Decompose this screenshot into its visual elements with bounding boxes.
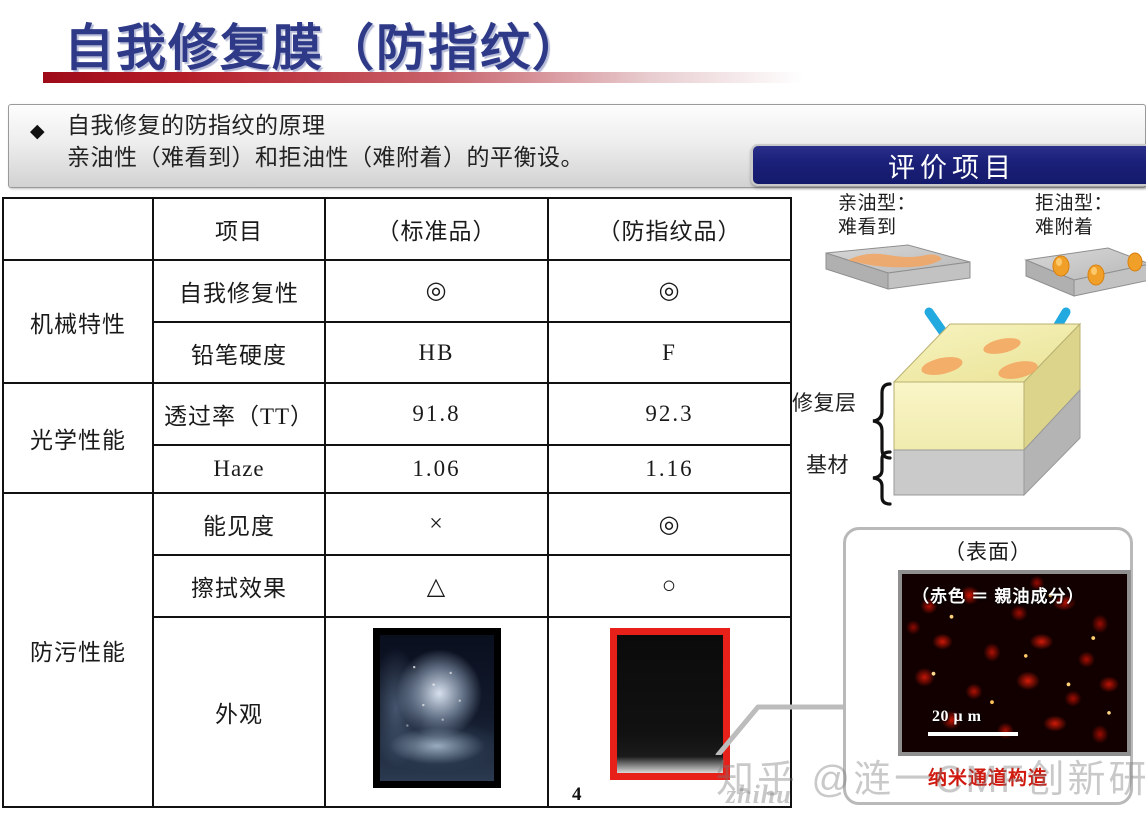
value-antifinger: ◎ [548, 493, 791, 555]
diamond-bullet-icon: ◆ [30, 122, 45, 141]
group-label-mechanical: 机械特性 [3, 260, 153, 384]
evaluation-banner-label: 评价项目 [888, 146, 1016, 185]
value-standard: △ [325, 555, 548, 617]
sem-card-footer: 纳米通道构造 [846, 763, 1130, 790]
item-label: Haze [153, 445, 325, 493]
photo-cell-standard [325, 617, 548, 807]
page-title: 自我修复膜（防指纹） [64, 8, 584, 80]
title-underline-rule [43, 72, 803, 83]
item-label: 透过率（TT） [153, 383, 325, 445]
oleophilic-plate-icon [826, 245, 970, 289]
value-antifinger: 1.16 [548, 445, 791, 493]
header-cell-item: 项目 [153, 198, 325, 260]
group-label-antifouling: 防污性能 [3, 493, 153, 807]
brace-base-layer [873, 452, 890, 504]
sem-image: （赤色 ＝ 親油成分） 20 μ m [898, 570, 1131, 756]
slide-root: 自我修复膜（防指纹） ◆ 自我修复的防指纹的原理 亲油性（难看到）和拒油性（难附… [0, 0, 1146, 820]
photo-standard-smudged [373, 628, 501, 788]
repair-layer-label: 修复层 [792, 390, 857, 416]
item-label: 擦拭效果 [153, 555, 325, 617]
surface-sem-card: （表面） （赤色 ＝ 親油成分） 20 μ m 纳米通道构造 [843, 527, 1133, 805]
evaluation-banner: 评价项目 [751, 144, 1146, 186]
value-standard: 1.06 [325, 445, 548, 493]
oleophobic-plate-icon [1026, 248, 1146, 296]
value-standard: 91.8 [325, 383, 548, 445]
principle-text: 自我修复的防指纹的原理 亲油性（难看到）和拒油性（难附着）的平衡设。 [67, 110, 767, 173]
table-row: 防污性能 能见度 × ◎ [3, 493, 791, 555]
value-standard: ◎ [325, 260, 548, 322]
brace-repair-layer [873, 384, 890, 458]
header-cell-antifinger: （防指纹品） [548, 198, 791, 260]
table-row: 光学性能 透过率（TT） 91.8 92.3 [3, 383, 791, 445]
header-cell-standard: （标准品） [325, 198, 548, 260]
principle-line-1: 自我修复的防指纹的原理 [67, 110, 767, 142]
sem-scale-bar [928, 732, 1018, 736]
sem-image-caption: （赤色 ＝ 親油成分） [912, 582, 1085, 607]
principle-line-2: 亲油性（难看到）和拒油性（难附着）的平衡设。 [67, 142, 767, 174]
sem-card-title: （表面） [846, 536, 1130, 566]
value-antifinger: F [548, 322, 791, 384]
base-layer-label: 基材 [806, 452, 849, 478]
group-label-optical: 光学性能 [3, 383, 153, 493]
table-header-row: 项目 （标准品） （防指纹品） [3, 198, 791, 260]
header-cell-blank [3, 198, 153, 260]
item-label: 铅笔硬度 [153, 322, 325, 384]
item-label: 外观 [153, 617, 325, 807]
evaluation-table: 项目 （标准品） （防指纹品） 机械特性 自我修复性 ◎ ◎ 铅笔硬度 HB F [2, 197, 790, 808]
table-row: 机械特性 自我修复性 ◎ ◎ [3, 260, 791, 322]
sem-scale-label: 20 μ m [932, 708, 981, 726]
item-label: 能见度 [153, 493, 325, 555]
photo-standard-image [380, 635, 494, 781]
value-standard: × [325, 493, 548, 555]
item-label: 自我修复性 [153, 260, 325, 322]
value-antifinger: ◎ [548, 260, 791, 322]
value-standard: HB [325, 322, 548, 384]
value-antifinger: 92.3 [548, 383, 791, 445]
layer-structure-diagram: 亲油型： 难看到 拒油型： 难附着 [790, 190, 1146, 510]
value-antifinger: ○ [548, 555, 791, 617]
page-number: 4 [572, 784, 582, 806]
